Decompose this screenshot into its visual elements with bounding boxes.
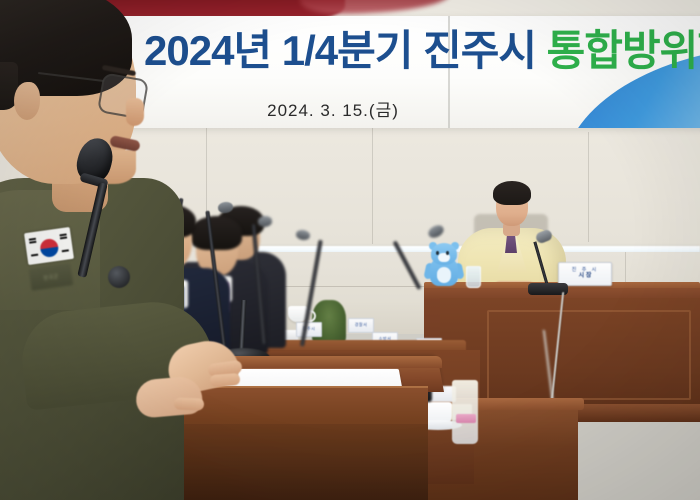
nameplate-name: 시 장: [579, 273, 592, 281]
trigram-mark: [31, 254, 38, 257]
presiding-official-hair: [493, 181, 531, 205]
mascot-eye-right: [446, 251, 449, 255]
panel-nameplate: 경찰서: [348, 318, 374, 333]
photo-scene: 2024년 1/4분기 진주시 통합방위협의회 2024. 3. 15.(금) …: [0, 0, 700, 500]
jinju-city-mascot-doll: [427, 243, 461, 287]
military-officer-speaker: 한국군: [0, 0, 210, 500]
officer-ear: [14, 82, 40, 120]
water-bottle: [452, 380, 478, 444]
banner-title: 2024년 1/4분기 진주시 통합방위협의회: [144, 30, 700, 72]
head-table-molding: [487, 310, 691, 400]
trigram-mark: [60, 236, 67, 239]
panel-nameplate: 진주시: [296, 322, 322, 337]
mascot-eye-left: [436, 251, 439, 255]
wall-seam-vertical: [372, 126, 373, 244]
banner-title-green: 통합방위협의회: [547, 27, 700, 74]
wall-seam-vertical: [588, 132, 589, 242]
mascot-belly: [437, 267, 451, 283]
water-glass: [466, 266, 481, 288]
korean-flag-patch: [24, 227, 74, 265]
officer-finger: [210, 373, 241, 387]
trigram-mark: [29, 241, 36, 244]
name-tape-text: 한국군: [43, 272, 59, 281]
head-table-nameplate: 진 주 시 시 장: [558, 262, 612, 286]
taeguk-blue: [40, 247, 59, 258]
officer-hand-left: [134, 375, 203, 419]
trigram-mark: [62, 249, 69, 252]
podium-microphone-joint: [108, 266, 130, 288]
officer-nose: [126, 98, 144, 126]
officer-finger: [174, 397, 204, 410]
water-bottle-label: [456, 414, 476, 423]
